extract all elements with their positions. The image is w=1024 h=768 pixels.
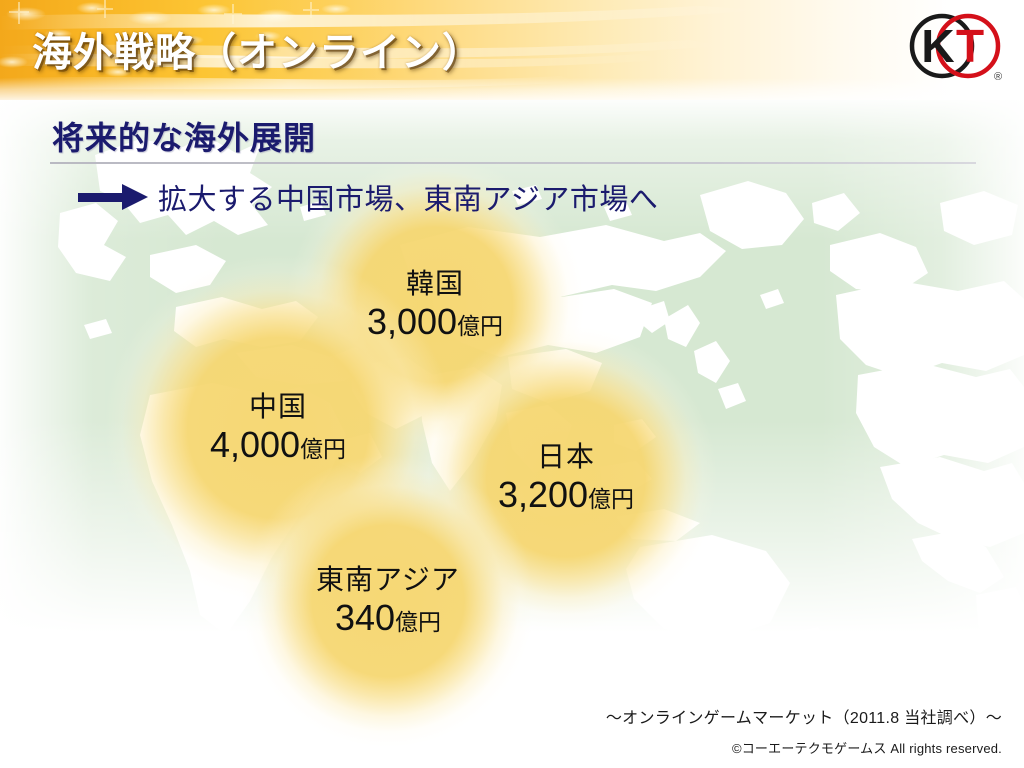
copyright-notice: ©コーエーテクモゲームス All rights reserved. bbox=[732, 738, 1002, 757]
bubble-region-name: 東南アジア bbox=[316, 564, 460, 595]
logo-letter-k: K bbox=[921, 20, 954, 72]
bubble-value: 3,200億円 bbox=[498, 475, 634, 515]
slide-root: 韓国3,000億円中国4,000億円日本3,200億円東南アジア340億円 bbox=[0, 0, 1024, 768]
arrow-head bbox=[122, 184, 148, 210]
page-title: 海外戦略（オンライン） bbox=[32, 20, 483, 78]
heading-divider bbox=[50, 162, 976, 164]
kt-logo: K T ® bbox=[898, 8, 1010, 92]
right-arrow-icon bbox=[78, 184, 148, 210]
bullet-arrow-text: 拡大する中国市場、東南アジア市場へ bbox=[158, 176, 658, 218]
bullet-arrow-row: 拡大する中国市場、東南アジア市場へ bbox=[78, 176, 658, 218]
bubble-unit: 億円 bbox=[588, 486, 634, 512]
source-note: 〜オンラインゲームマーケット（2011.8 当社調べ）〜 bbox=[606, 704, 1002, 728]
slide-header: 海外戦略（オンライン） K T ® bbox=[0, 0, 1024, 100]
bubble-label-group: 韓国3,000億円 bbox=[367, 268, 503, 342]
logo-registered-icon: ® bbox=[994, 71, 1002, 83]
bubble-value: 3,000億円 bbox=[367, 302, 503, 342]
header-bottom-fade bbox=[0, 78, 1024, 100]
bubble-label-group: 中国4,000億円 bbox=[210, 391, 346, 465]
bubble-label-group: 日本3,200億円 bbox=[498, 441, 634, 515]
bubble-region-name: 中国 bbox=[210, 391, 346, 422]
bubble-region-name: 韓国 bbox=[367, 268, 503, 299]
bubble-unit: 億円 bbox=[300, 436, 346, 462]
bubble-unit: 億円 bbox=[457, 313, 503, 339]
bubble-value: 4,000億円 bbox=[210, 425, 346, 465]
bubble-3: 東南アジア340億円 bbox=[242, 455, 533, 746]
bubble-region-name: 日本 bbox=[498, 441, 634, 472]
bubble-label-group: 東南アジア340億円 bbox=[316, 564, 460, 638]
section-heading: 将来的な海外展開 bbox=[52, 113, 316, 159]
logo-letter-t: T bbox=[956, 20, 984, 72]
bubble-value: 340億円 bbox=[316, 598, 460, 638]
bubble-unit: 億円 bbox=[395, 609, 441, 635]
arrow-shaft bbox=[78, 193, 126, 202]
